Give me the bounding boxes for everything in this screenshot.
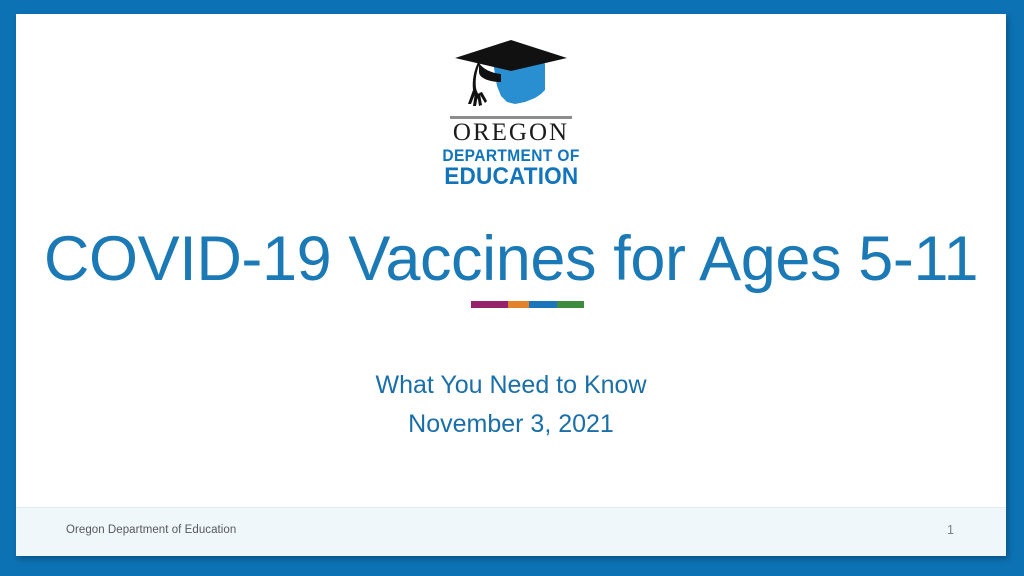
slide-title: COVID-19 Vaccines for Ages 5-11 — [16, 226, 1006, 292]
accent-segment-orange — [508, 301, 529, 308]
graduation-cap-oregon-state-icon — [449, 38, 573, 112]
subtitle-line-date: November 3, 2021 — [16, 405, 1006, 444]
title-block: COVID-19 Vaccines for Ages 5-11 — [16, 226, 1006, 292]
logo-block: OREGON DEPARTMENT OF EDUCATION — [16, 38, 1006, 189]
subtitle-block: What You Need to Know November 3, 2021 — [16, 366, 1006, 444]
footer-organization-label: Oregon Department of Education — [66, 524, 236, 536]
accent-segment-green — [557, 301, 584, 308]
logo-wordmark-oregon: OREGON — [453, 120, 569, 146]
slide-footer: Oregon Department of Education 1 — [16, 507, 1006, 556]
accent-segment-magenta — [471, 301, 508, 308]
presentation-slide: OREGON DEPARTMENT OF EDUCATION COVID-19 … — [16, 14, 1006, 556]
accent-divider-rule — [471, 301, 584, 308]
slide-viewport: OREGON DEPARTMENT OF EDUCATION COVID-19 … — [0, 0, 1024, 576]
footer-page-number: 1 — [947, 523, 954, 537]
accent-segment-blue — [529, 301, 557, 308]
logo-wordmark-education: EDUCATION — [444, 165, 578, 189]
subtitle-line-headline: What You Need to Know — [16, 366, 1006, 405]
